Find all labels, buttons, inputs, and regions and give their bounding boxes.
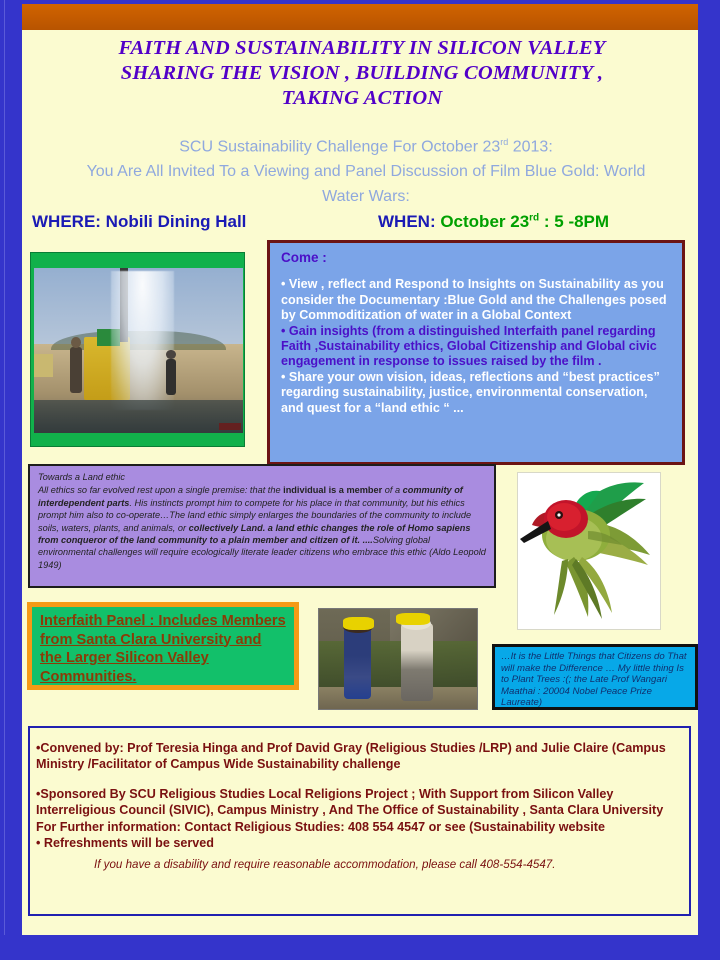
where-info: WHERE: Nobili Dining Hall bbox=[32, 212, 246, 232]
page-title: FAITH AND SUSTAINABILITY IN SILICON VALL… bbox=[52, 36, 672, 111]
title-line-1: FAITH AND SUSTAINABILITY IN SILICON VALL… bbox=[52, 36, 672, 61]
interfaith-panel-box: Interfaith Panel : Includes Members from… bbox=[27, 602, 299, 690]
footer-spacer bbox=[36, 773, 679, 786]
photo-wet-ground bbox=[34, 400, 243, 433]
title-line-2: SHARING THE VISION , BUILDING COMMUNITY … bbox=[52, 61, 672, 86]
photo-child-right bbox=[401, 623, 433, 701]
come-heading: Come : bbox=[281, 250, 673, 265]
poster-page: FAITH AND SUSTAINABILITY IN SILICON VALL… bbox=[22, 30, 698, 935]
top-orange-bar bbox=[22, 4, 700, 31]
photo-watermark bbox=[219, 423, 241, 430]
photo-person-left bbox=[70, 347, 83, 393]
come-bullet-3: • Share your own vision, ideas, reflecti… bbox=[281, 370, 673, 416]
photo-yellow-jerrycan-left bbox=[343, 617, 375, 630]
children-water-photo bbox=[318, 608, 478, 710]
subtitle-line-1: SCU Sustainability Challenge For October… bbox=[46, 130, 686, 159]
footer-info-box: •Convened by: Prof Teresia Hinga and Pro… bbox=[28, 726, 691, 916]
where-when-row: WHERE: Nobili Dining Hall WHEN: October … bbox=[32, 212, 672, 236]
land-ethic-seg-3: of a bbox=[382, 485, 402, 495]
hummingbird-image bbox=[517, 472, 661, 630]
interfaith-panel-text: Interfaith Panel : Includes Members from… bbox=[40, 612, 286, 686]
photo-person-right bbox=[166, 359, 176, 395]
subtitle-line-1-pre: SCU Sustainability Challenge For October… bbox=[179, 138, 500, 155]
land-ethic-title: Towards a Land ethic bbox=[38, 471, 486, 483]
where-value: Nobili Dining Hall bbox=[101, 212, 246, 231]
when-value-post: : 5 -8PM bbox=[539, 212, 609, 231]
footer-convened: •Convened by: Prof Teresia Hinga and Pro… bbox=[36, 740, 679, 773]
when-value-pre: October 23 bbox=[436, 212, 530, 231]
land-ethic-seg-6: collectively Land bbox=[189, 523, 263, 533]
subtitle-line-1-post: 2013: bbox=[508, 138, 552, 155]
subtitle-line-3: Water Wars: bbox=[46, 184, 686, 209]
subtitle-line-2: You Are All Invited To a Viewing and Pan… bbox=[46, 159, 686, 184]
water-well-photo-image bbox=[34, 268, 243, 433]
photo-dirt-path bbox=[319, 687, 477, 709]
footer-refreshments: • Refreshments will be served bbox=[36, 835, 679, 851]
wangari-maathai-quote-box: …It is the Little Things that Citizens d… bbox=[492, 644, 698, 710]
when-info: WHEN: October 23rd : 5 -8PM bbox=[378, 212, 609, 232]
where-label: WHERE: bbox=[32, 212, 101, 231]
land-ethic-box: Towards a Land ethicAll ethics so far ev… bbox=[28, 464, 496, 588]
footer-accommodation-note: If you have a disability and require rea… bbox=[94, 857, 679, 873]
land-ethic-seg-1: All ethics so far evolved rest upon a si… bbox=[38, 485, 283, 495]
land-ethic-seg-2: individual is a member bbox=[283, 485, 382, 495]
title-line-3: TAKING ACTION bbox=[52, 86, 672, 111]
quote-text: …It is the Little Things that Citizens d… bbox=[501, 651, 687, 708]
come-bullet-1: • View , reflect and Respond to Insights… bbox=[281, 277, 673, 323]
subtitle: SCU Sustainability Challenge For October… bbox=[46, 130, 686, 209]
bottom-blue-frame bbox=[0, 935, 720, 960]
photo-yellow-jerrycan-right bbox=[396, 613, 429, 625]
photo-water-spray bbox=[111, 271, 174, 410]
water-well-photo bbox=[30, 252, 245, 447]
come-bullet-2: • Gain insights (from a distinguished In… bbox=[281, 324, 673, 370]
photo-child-left bbox=[344, 627, 371, 699]
left-blue-frame bbox=[0, 0, 22, 960]
footer-contact: For Further information: Contact Religio… bbox=[36, 819, 679, 835]
come-info-box: Come : • View , reflect and Respond to I… bbox=[267, 240, 685, 465]
footer-sponsored: •Sponsored By SCU Religious Studies Loca… bbox=[36, 786, 679, 819]
photo-grass bbox=[319, 641, 477, 691]
poster-root: FAITH AND SUSTAINABILITY IN SILICON VALL… bbox=[0, 0, 720, 960]
right-blue-frame bbox=[698, 0, 720, 960]
when-ordinal: rd bbox=[529, 212, 539, 223]
when-value: October 23rd : 5 -8PM bbox=[436, 212, 609, 231]
photo-truck bbox=[34, 354, 53, 377]
hummingbird-icon bbox=[518, 473, 660, 629]
when-label: WHEN: bbox=[378, 212, 436, 231]
